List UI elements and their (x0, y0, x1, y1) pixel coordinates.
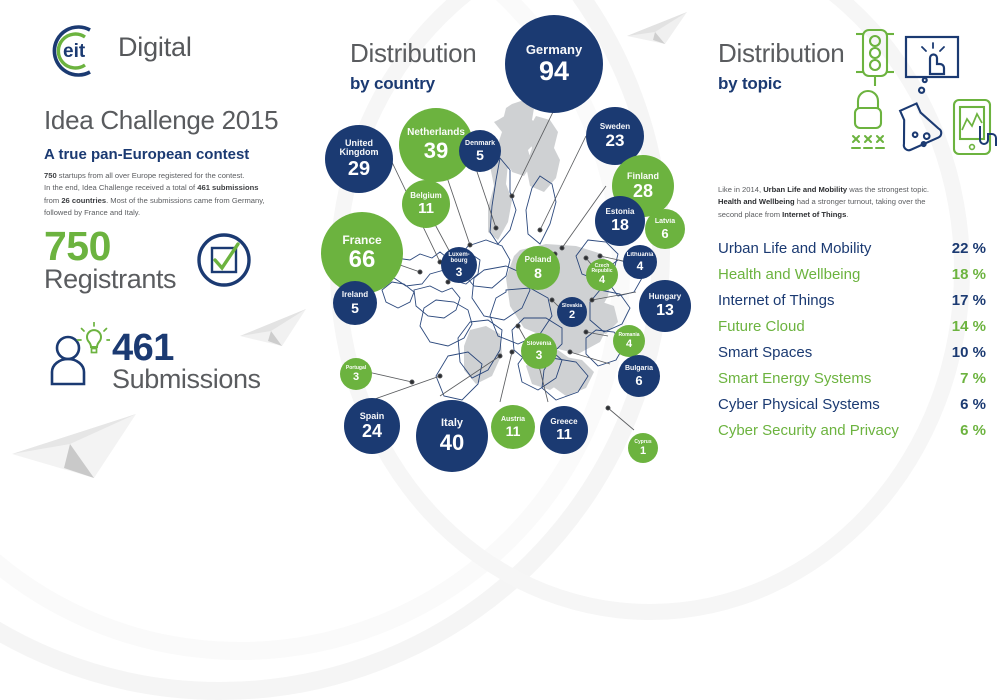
country-bubble-value: 4 (599, 275, 605, 286)
padlock-icon (852, 91, 884, 148)
topic-label: Urban Life and Mobility (718, 240, 871, 257)
country-bubble-name: Romania (618, 333, 639, 338)
country-bubble-value: 40 (440, 432, 464, 454)
topic-label: Health and Wellbeing (718, 266, 860, 283)
country-bubble: Denmark5 (459, 130, 501, 172)
country-bubble-name: Belgium (410, 192, 442, 200)
country-bubble-value: 29 (348, 159, 370, 179)
topic-label: Cyber Security and Privacy (718, 422, 899, 439)
country-bubble-value: 66 (349, 248, 376, 272)
country-bubble-name: Czech Republic (586, 264, 618, 274)
country-bubble: Bulgaria6 (618, 355, 660, 397)
country-bubble: Estonia18 (595, 196, 645, 246)
country-bubble: Latvia6 (645, 209, 685, 249)
topic-percentage: 18 % (952, 266, 986, 283)
topic-row: Smart Spaces10 % (718, 344, 986, 370)
topic-percentage: 6 % (960, 422, 986, 439)
topic-row: Smart Energy Systems7 % (718, 370, 986, 396)
flask-icon (882, 77, 951, 153)
topic-label: Cyber Physical Systems (718, 396, 880, 413)
country-bubble-value: 3 (536, 349, 543, 361)
country-bubble-name: Austria (501, 416, 525, 423)
country-bubble: Germany94 (505, 15, 603, 113)
country-bubble-name: Slovakia (562, 304, 582, 309)
country-bubble: Spain24 (344, 398, 400, 454)
country-bubble-value: 24 (362, 422, 382, 440)
topic-row: Cyber Security and Privacy6 % (718, 422, 986, 448)
country-bubble: Hungary13 (639, 280, 691, 332)
country-bubble-name: Netherlands (407, 128, 465, 138)
country-bubble-value: 1 (640, 446, 646, 457)
country-bubble: Lithuania4 (623, 245, 657, 279)
country-bubble-name: Sweden (600, 123, 630, 131)
topic-subheading: by topic (718, 74, 782, 94)
country-bubble-value: 6 (661, 227, 668, 240)
country-bubble: Cyprus1 (628, 433, 658, 463)
topic-row: Health and Wellbeing18 % (718, 266, 986, 292)
topic-percentage: 10 % (952, 344, 986, 361)
country-bubble: Romania4 (613, 325, 645, 357)
country-bubble-name: Finland (627, 172, 659, 181)
country-bubble-value: 23 (606, 132, 625, 149)
country-bubble-value: 28 (633, 182, 653, 200)
country-bubble-name: Estonia (606, 208, 635, 216)
country-bubble-name: United Kingdom (325, 139, 393, 157)
topic-label: Internet of Things (718, 292, 834, 309)
topic-row: Future Cloud14 % (718, 318, 986, 344)
touch-screen-icon (906, 37, 958, 77)
country-bubble-name: Hungary (649, 293, 681, 301)
country-bubble: Belgium11 (402, 180, 450, 228)
topic-label: Future Cloud (718, 318, 805, 335)
country-bubble: Greece11 (540, 406, 588, 454)
country-bubble-value: 6 (635, 374, 642, 387)
country-bubble-name: Denmark (465, 140, 495, 147)
country-bubble: Czech Republic4 (586, 259, 618, 291)
tablet-chart-icon (954, 100, 996, 154)
topic-percentage: 22 % (952, 240, 986, 257)
topic-percentage: 7 % (960, 370, 986, 387)
topic-percentage: 6 % (960, 396, 986, 413)
country-bubble-name: Greece (550, 418, 577, 426)
country-bubble-value: 18 (611, 218, 629, 234)
country-bubble-name: Spain (360, 412, 385, 421)
country-bubble-value: 4 (626, 339, 632, 350)
topic-label: Smart Energy Systems (718, 370, 871, 387)
topic-icon-cluster (850, 22, 1000, 172)
topic-row: Urban Life and Mobility22 % (718, 240, 986, 266)
country-bubble-value: 11 (506, 424, 521, 438)
country-bubble-name: Latvia (655, 218, 675, 225)
topic-panel: Distribution by topic (700, 0, 1000, 500)
country-bubble-value: 13 (656, 303, 674, 319)
country-bubble: Austria11 (491, 405, 535, 449)
country-bubble: Luxem- bourg3 (441, 247, 477, 283)
country-bubble-value: 11 (556, 427, 572, 442)
topic-percentage: 14 % (952, 318, 986, 335)
topic-row: Internet of Things17 % (718, 292, 986, 318)
infographic-page: eit Digital Idea Challenge 2015 A true p… (0, 0, 1000, 500)
country-bubble-value: 5 (351, 301, 359, 315)
country-bubble: Slovenia3 (521, 333, 557, 369)
topic-heading: Distribution (718, 38, 844, 69)
country-bubble-value: 2 (569, 310, 575, 321)
country-bubble: Ireland5 (333, 281, 377, 325)
country-bubble-name: Ireland (342, 291, 368, 299)
traffic-light-icon (856, 30, 894, 86)
country-bubble-name: Italy (441, 418, 463, 429)
country-bubble-value: 8 (534, 266, 542, 280)
country-bubble-value: 11 (418, 201, 434, 216)
country-bubble-name: Slovenia (527, 341, 552, 347)
topic-label: Smart Spaces (718, 344, 812, 361)
country-bubble-value: 39 (424, 140, 448, 162)
country-bubble-value: 5 (476, 148, 484, 162)
country-bubble: Poland8 (516, 246, 560, 290)
country-bubble-value: 3 (456, 266, 463, 278)
country-bubble-name: Poland (525, 256, 552, 264)
country-bubble-name: Cyprus (634, 440, 651, 445)
country-bubble-name: Luxem- bourg (441, 252, 477, 264)
country-bubble: United Kingdom29 (325, 125, 393, 193)
topic-row: Cyber Physical Systems6 % (718, 396, 986, 422)
country-bubble-value: 4 (637, 260, 644, 272)
country-bubble-value: 94 (539, 58, 569, 85)
country-bubble-name: Portugal (346, 366, 366, 371)
topic-list: Urban Life and Mobility22 %Health and We… (718, 240, 986, 448)
country-bubble: Italy40 (416, 400, 488, 472)
country-bubble: Slovakia2 (557, 297, 587, 327)
country-bubble-name: France (342, 234, 381, 246)
country-bubble-name: Germany (526, 43, 582, 56)
country-bubble-name: Lithuania (627, 252, 654, 258)
country-bubble-name: Bulgaria (625, 365, 653, 372)
topic-blurb: Like in 2014, Urban Life and Mobility wa… (718, 184, 988, 221)
country-bubble-value: 3 (353, 372, 359, 383)
topic-percentage: 17 % (952, 292, 986, 309)
country-bubble: Portugal3 (340, 358, 372, 390)
